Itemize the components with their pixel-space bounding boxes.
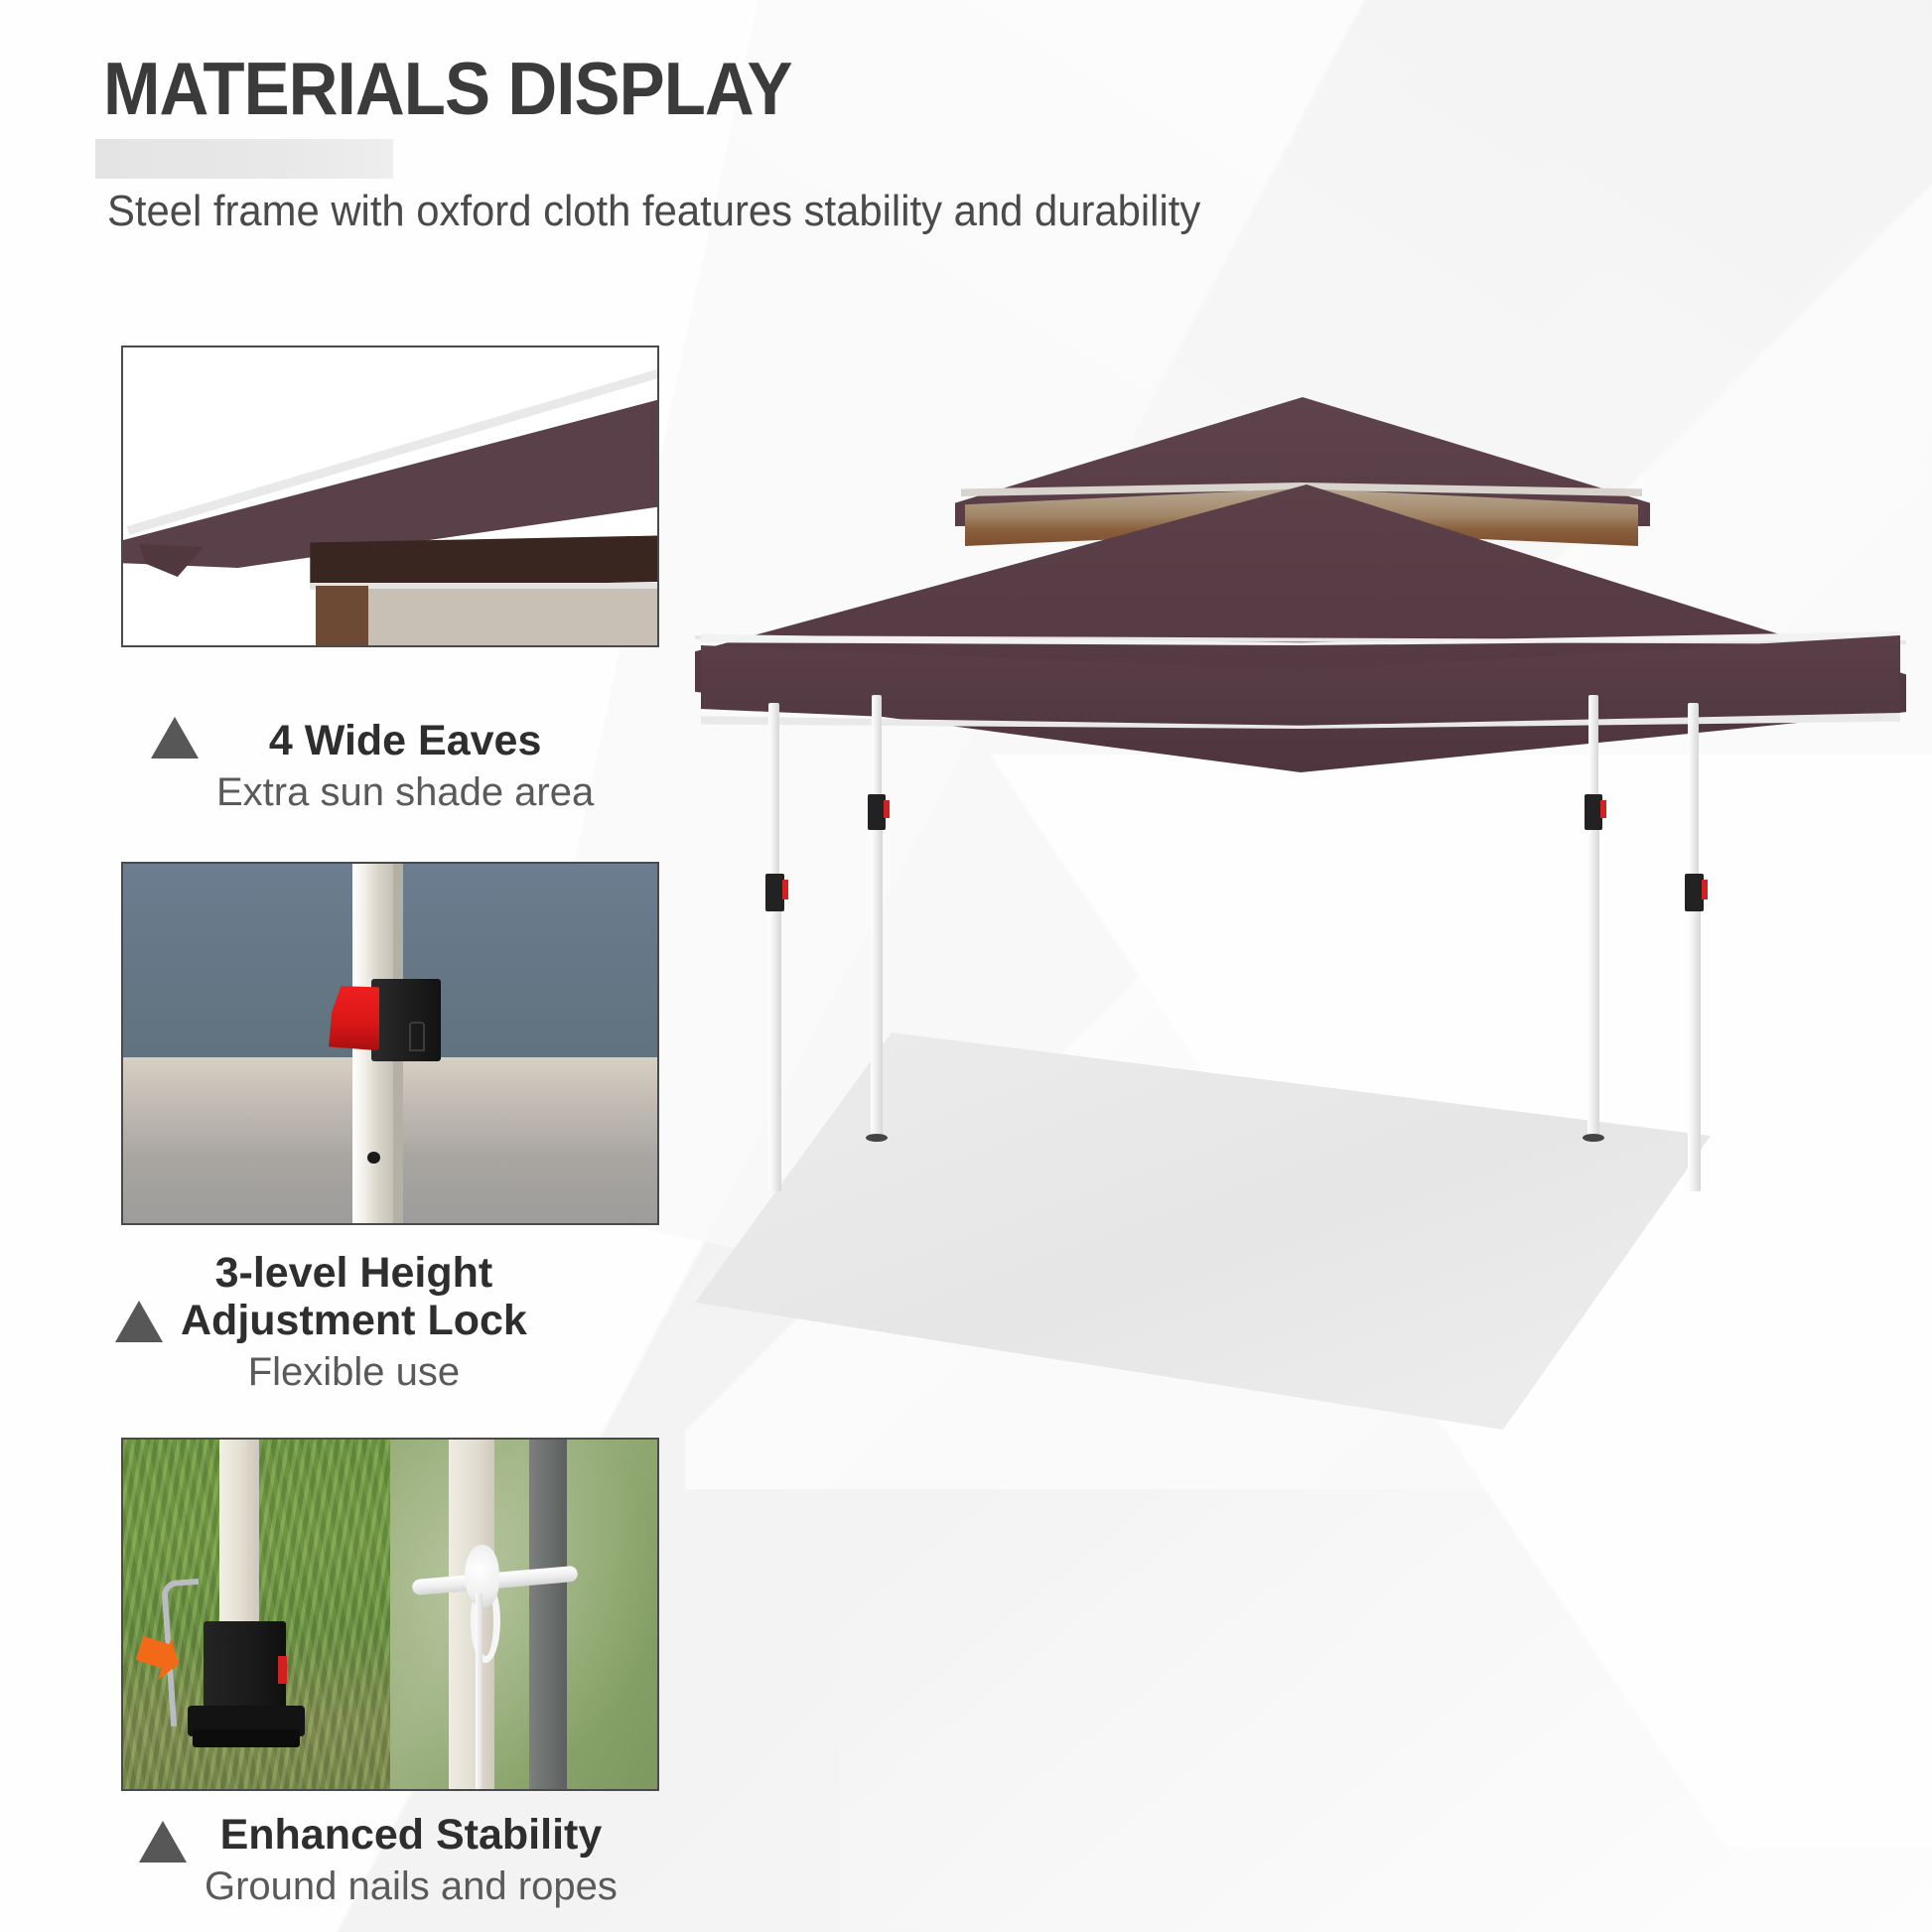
leg-lock-red-tab	[1702, 880, 1708, 899]
feature-photo-height-lock	[121, 862, 659, 1225]
triangle-bullet-icon	[115, 1301, 163, 1342]
corner-post-fabric	[316, 586, 369, 647]
feature-photo-stability	[121, 1438, 659, 1791]
leg-front-right-lower	[1688, 894, 1701, 1191]
side-wall-mesh	[368, 589, 659, 647]
feature-title: 3-level Height Adjustment Lock	[181, 1249, 527, 1344]
caption-text-block: Enhanced Stability Ground nails and rope…	[205, 1811, 618, 1910]
steel-pole-back	[529, 1440, 567, 1789]
pole-adjustment-hole	[367, 1152, 380, 1164]
feature-photo-wide-eaves	[121, 345, 659, 647]
eave-photo-scene	[123, 347, 657, 645]
caption-text-block: 4 Wide Eaves Extra sun shade area	[216, 717, 594, 816]
feature-caption-height-lock: 3-level Height Adjustment Lock Flexible …	[115, 1249, 671, 1396]
leg-lock-red-tab	[782, 880, 788, 899]
leg-back-right-lower	[1587, 814, 1599, 1142]
leg-lock-red-tab	[1600, 800, 1606, 818]
feature-title: 4 Wide Eaves	[216, 717, 594, 764]
background-bokeh	[390, 1440, 657, 1789]
feature-subtitle: Extra sun shade area	[216, 768, 594, 816]
leg-lock-red-tab	[884, 800, 890, 818]
leg-back-left-lower	[871, 814, 883, 1142]
feature-caption-stability: Enhanced Stability Ground nails and rope…	[139, 1811, 675, 1910]
leg-foot-cap	[866, 1134, 888, 1142]
pole-foot-bracket	[204, 1621, 286, 1720]
valance-band	[310, 535, 659, 589]
guy-rope-vertical	[476, 1593, 483, 1789]
feature-subtitle: Flexible use	[181, 1348, 527, 1396]
leg-front-left-lower	[768, 894, 781, 1191]
leg-foot-cap	[1583, 1134, 1604, 1142]
lock-slot-icon	[409, 1022, 425, 1050]
caption-text-block: 3-level Height Adjustment Lock Flexible …	[181, 1249, 527, 1396]
feature-subtitle: Ground nails and ropes	[205, 1863, 618, 1910]
feature-caption-wide-eaves: 4 Wide Eaves Extra sun shade area	[151, 717, 667, 816]
triangle-bullet-icon	[151, 717, 199, 759]
page-title: MATERIALS DISPLAY	[103, 46, 792, 131]
triangle-bullet-icon	[139, 1821, 187, 1863]
page-subtitle: Steel frame with oxford cloth features s…	[107, 187, 1200, 236]
base-plate-lower	[193, 1729, 300, 1747]
ground-platform	[695, 1033, 1787, 1430]
stability-photo-scene	[123, 1440, 657, 1789]
hero-gazebo-image	[695, 397, 1906, 1479]
lock-photo-scene	[123, 864, 657, 1223]
ground-nail-photo	[123, 1440, 390, 1789]
foot-red-marker	[278, 1656, 287, 1684]
feature-title: Enhanced Stability	[205, 1811, 618, 1859]
lock-housing	[371, 979, 441, 1061]
title-highlight-bar	[95, 139, 393, 179]
rope-tie-photo	[390, 1440, 657, 1789]
materials-display-infographic: MATERIALS DISPLAY Steel frame with oxfor…	[0, 0, 1932, 1932]
